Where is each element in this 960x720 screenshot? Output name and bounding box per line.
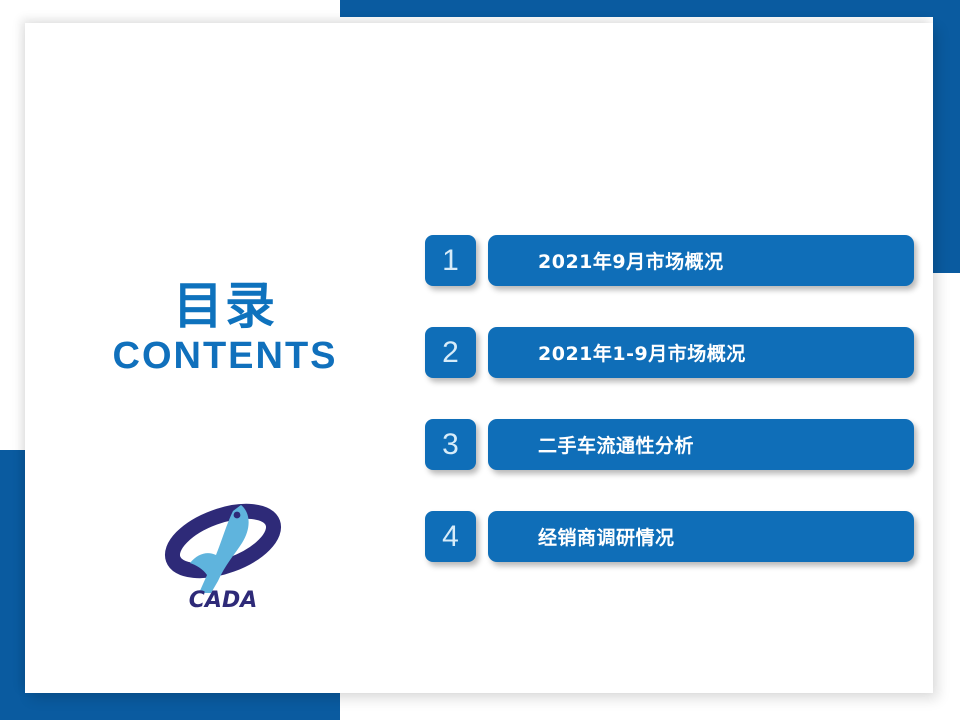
- slide-card: 目录 CONTENTS CADA 1: [25, 23, 933, 693]
- contents-entry-label: 经销商调研情况: [538, 523, 675, 550]
- contents-entry-label: 2021年1-9月市场概况: [538, 339, 746, 366]
- contents-slide: 目录 CONTENTS CADA 1: [0, 0, 960, 720]
- top-right-blue-band: [340, 0, 960, 17]
- contents-entry-bar[interactable]: 2021年9月市场概况: [488, 235, 914, 286]
- contents-number: 1: [442, 246, 459, 276]
- contents-number-badge[interactable]: 1: [425, 235, 476, 286]
- contents-number-badge[interactable]: 4: [425, 511, 476, 562]
- cada-logo: CADA: [163, 489, 283, 611]
- logo-wordmark: CADA: [189, 588, 257, 611]
- contents-entry-label: 2021年9月市场概况: [538, 247, 724, 274]
- contents-number: 3: [442, 430, 459, 460]
- page-title-english: CONTENTS: [65, 335, 385, 378]
- contents-number-badge[interactable]: 2: [425, 327, 476, 378]
- contents-number: 4: [442, 522, 459, 552]
- page-title-chinese: 目录: [65, 281, 385, 331]
- left-blue-band: [0, 450, 27, 720]
- contents-entry-bar[interactable]: 经销商调研情况: [488, 511, 914, 562]
- right-blue-band: [933, 0, 960, 273]
- contents-title-block: 目录 CONTENTS: [65, 281, 385, 378]
- contents-entry-bar[interactable]: 二手车流通性分析: [488, 419, 914, 470]
- contents-number-badge[interactable]: 3: [425, 419, 476, 470]
- contents-entry-label: 二手车流通性分析: [538, 431, 694, 458]
- contents-number: 2: [442, 338, 459, 368]
- contents-entry-bar[interactable]: 2021年1-9月市场概况: [488, 327, 914, 378]
- bottom-blue-band: [0, 693, 340, 720]
- logo-eye: [234, 512, 241, 519]
